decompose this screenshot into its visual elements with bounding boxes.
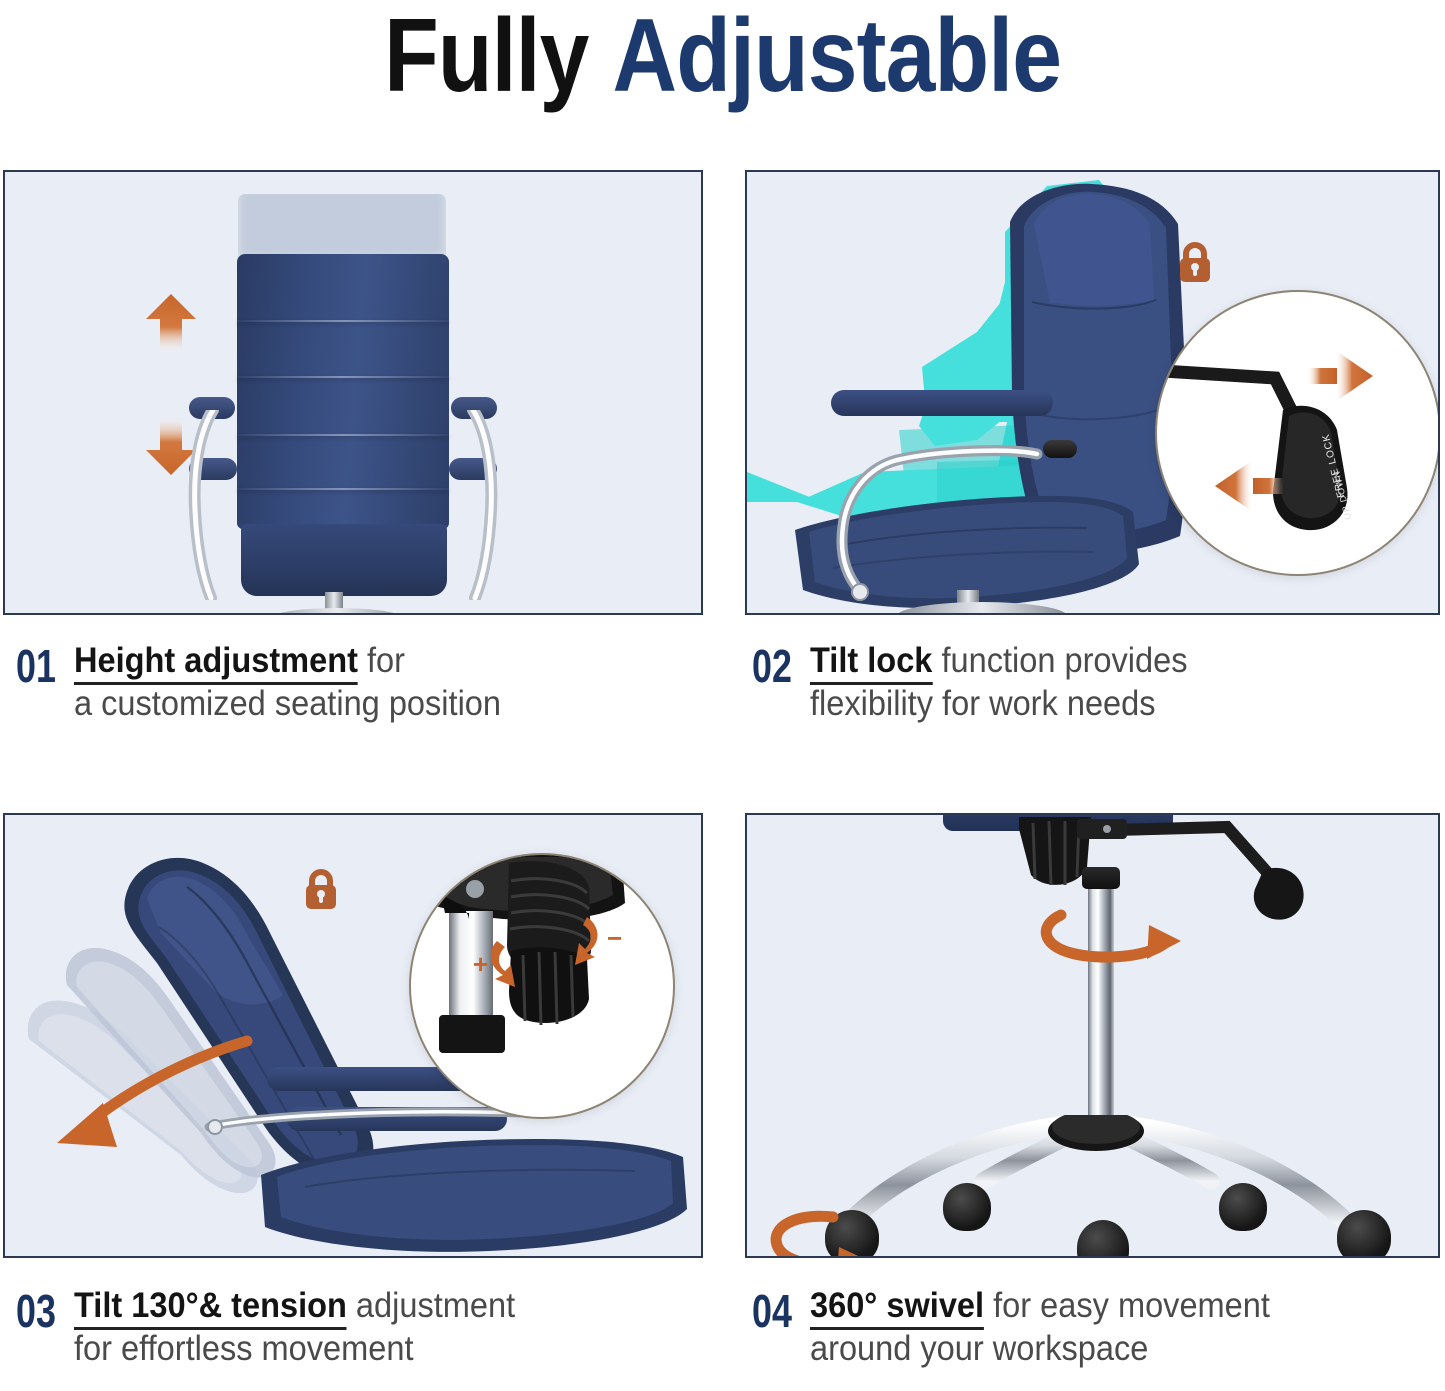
feature-headline-rest-01: for: [358, 641, 405, 680]
chair-base: [267, 608, 407, 613]
feature-panel-03: + −: [3, 813, 703, 1258]
caster-rotate-arrow-icon: [761, 1207, 881, 1256]
feature-subline-03: for effortless movement: [74, 1328, 671, 1371]
feature-number-02: 02: [752, 640, 797, 689]
panel-image-tilt-tension: + −: [3, 813, 703, 1258]
feature-number-04: 04: [752, 1285, 797, 1334]
feature-keyword-02: Tilt lock: [810, 641, 932, 685]
tilt-knob: [1043, 440, 1077, 458]
feature-headline-rest-02: function provides: [932, 641, 1187, 680]
feature-panel-02: FREE LOCK UP DOWN: [745, 170, 1440, 615]
caster-wheel: [1219, 1183, 1267, 1231]
chair-arm-pad: [831, 390, 1053, 416]
feature-keyword-01: Height adjustment: [74, 641, 358, 685]
feature-headline-03: Tilt 130°& tension adjustment: [74, 1285, 671, 1328]
panel-image-swivel-base: [745, 813, 1440, 1258]
feature-caption-04: 04 360° swivel for easy movement around …: [752, 1285, 1445, 1370]
chair-arm-loop: [821, 414, 1071, 604]
cylinder-collar: [1082, 867, 1120, 889]
feature-panel-04: [745, 813, 1440, 1258]
feature-headline-02: Tilt lock function provides: [810, 640, 1407, 683]
panel-image-tilt-lock: FREE LOCK UP DOWN: [745, 170, 1440, 615]
feature-panel-01: [3, 170, 703, 615]
caster-wheel: [943, 1183, 991, 1231]
feature-headline-04: 360° swivel for easy movement: [810, 1285, 1407, 1328]
caster-wheel: [1337, 1210, 1391, 1256]
callout-tension-knob: + −: [409, 853, 675, 1119]
feature-number-03: 03: [16, 1285, 61, 1334]
feature-subline-04: around your workspace: [810, 1328, 1407, 1371]
rotate-arrow-icon: [1031, 899, 1191, 969]
feature-number-01: 01: [16, 640, 61, 689]
arrow-up-icon: [144, 292, 198, 354]
callout-tilt-lock-lever: FREE LOCK UP DOWN: [1155, 290, 1438, 576]
feature-headline-rest-04: for easy movement: [984, 1286, 1270, 1325]
panel-image-height-adjustment: [3, 170, 703, 615]
chair-seat: [241, 524, 447, 596]
feature-subline-02: flexibility for work needs: [810, 683, 1407, 726]
chair-backrest: [237, 254, 449, 529]
curved-arrow-icon: [29, 1025, 259, 1175]
feature-headline-01: Height adjustment for: [74, 640, 671, 683]
feature-headline-rest-03: adjustment: [347, 1286, 515, 1325]
feature-keyword-04: 360° swivel: [810, 1286, 984, 1330]
padlock-icon: [1175, 240, 1215, 284]
feature-subline-01: a customized seating position: [74, 683, 671, 726]
svg-text:−: −: [607, 923, 622, 953]
svg-text:+: +: [473, 949, 488, 979]
feature-keyword-03: Tilt 130°& tension: [74, 1286, 347, 1330]
feature-caption-03: 03 Tilt 130°& tension adjustment for eff…: [16, 1285, 716, 1370]
padlock-icon: [301, 867, 341, 911]
feature-caption-01: 01 Height adjustment for a customized se…: [16, 640, 716, 725]
feature-caption-02: 02 Tilt lock function provides flexibili…: [752, 640, 1445, 725]
